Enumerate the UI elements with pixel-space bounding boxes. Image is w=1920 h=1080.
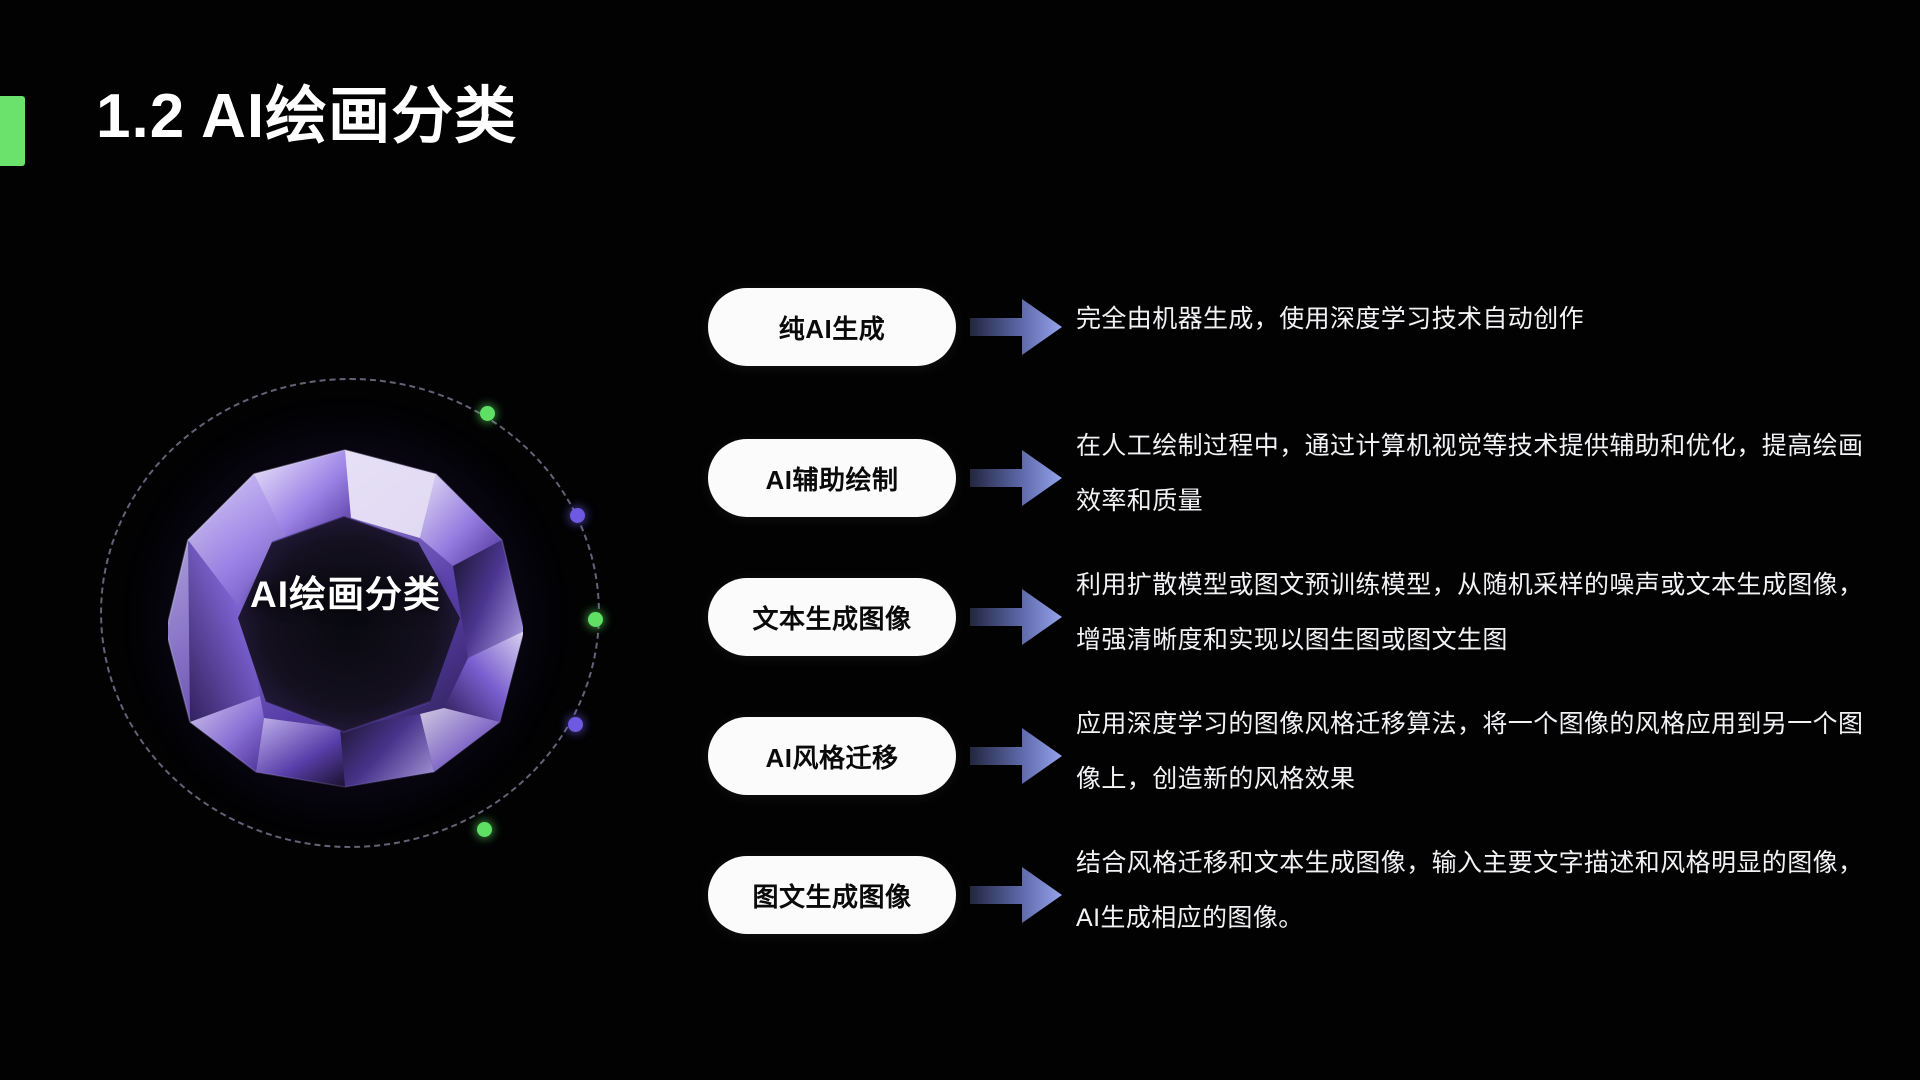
orbit-dot-1: [480, 406, 495, 421]
category-pill-1[interactable]: 纯AI生成: [708, 288, 956, 366]
crystal-center-label: AI绘画分类: [168, 564, 523, 618]
category-row: AI风格迁移 应用深度学习的图像风格迁移算法，将一个图像的风格应用到另一个图像上…: [708, 693, 1878, 807]
category-pill-5[interactable]: 图文生成图像: [708, 856, 956, 934]
crystal-polyhedron: AI绘画分类: [168, 446, 523, 791]
category-row: 纯AI生成 完全由机器生成，使用深度学习技术自动创作: [708, 288, 1878, 390]
orbit-dot-4: [568, 717, 583, 732]
slide-root: 1.2 AI绘画分类: [0, 0, 1920, 1080]
crystal-icon: [168, 446, 523, 791]
category-row: AI辅助绘制 在人工绘制过程中，通过计算机视觉等技术提供辅助和优化，提高绘画效率…: [708, 415, 1878, 529]
arrow-right-icon: [956, 578, 1076, 656]
category-pill-2[interactable]: AI辅助绘制: [708, 439, 956, 517]
category-description-5: 结合风格迁移和文本生成图像，输入主要文字描述和风格明显的图像，AI生成相应的图像…: [1076, 832, 1878, 946]
category-description-4: 应用深度学习的图像风格迁移算法，将一个图像的风格应用到另一个图像上，创造新的风格…: [1076, 693, 1878, 807]
category-row: 文本生成图像 利用扩散模型或图文预训练模型，从随机采样的噪声或文本生成图像，增强…: [708, 554, 1878, 668]
category-row: 图文生成图像 结合风格迁移和文本生成图像，输入主要文字描述和风格明显的图像，AI…: [708, 832, 1878, 946]
arrow-right-icon: [956, 288, 1076, 366]
category-list: 纯AI生成 完全由机器生成，使用深度学习技术自动创作 AI辅助绘制: [708, 288, 1878, 971]
category-pill-3[interactable]: 文本生成图像: [708, 578, 956, 656]
category-description-1: 完全由机器生成，使用深度学习技术自动创作: [1076, 288, 1878, 347]
arrow-right-icon: [956, 856, 1076, 934]
arrow-right-icon: [956, 717, 1076, 795]
orbit-dot-5: [477, 822, 492, 837]
category-description-2: 在人工绘制过程中，通过计算机视觉等技术提供辅助和优化，提高绘画效率和质量: [1076, 415, 1878, 529]
title-accent-bar: [0, 96, 25, 166]
orbit-dot-3: [588, 612, 603, 627]
page-title: 1.2 AI绘画分类: [96, 78, 517, 156]
crystal-visual: AI绘画分类: [95, 372, 615, 857]
orbit-dot-2: [570, 508, 585, 523]
category-pill-4[interactable]: AI风格迁移: [708, 717, 956, 795]
arrow-right-icon: [956, 439, 1076, 517]
category-description-3: 利用扩散模型或图文预训练模型，从随机采样的噪声或文本生成图像，增强清晰度和实现以…: [1076, 554, 1878, 668]
